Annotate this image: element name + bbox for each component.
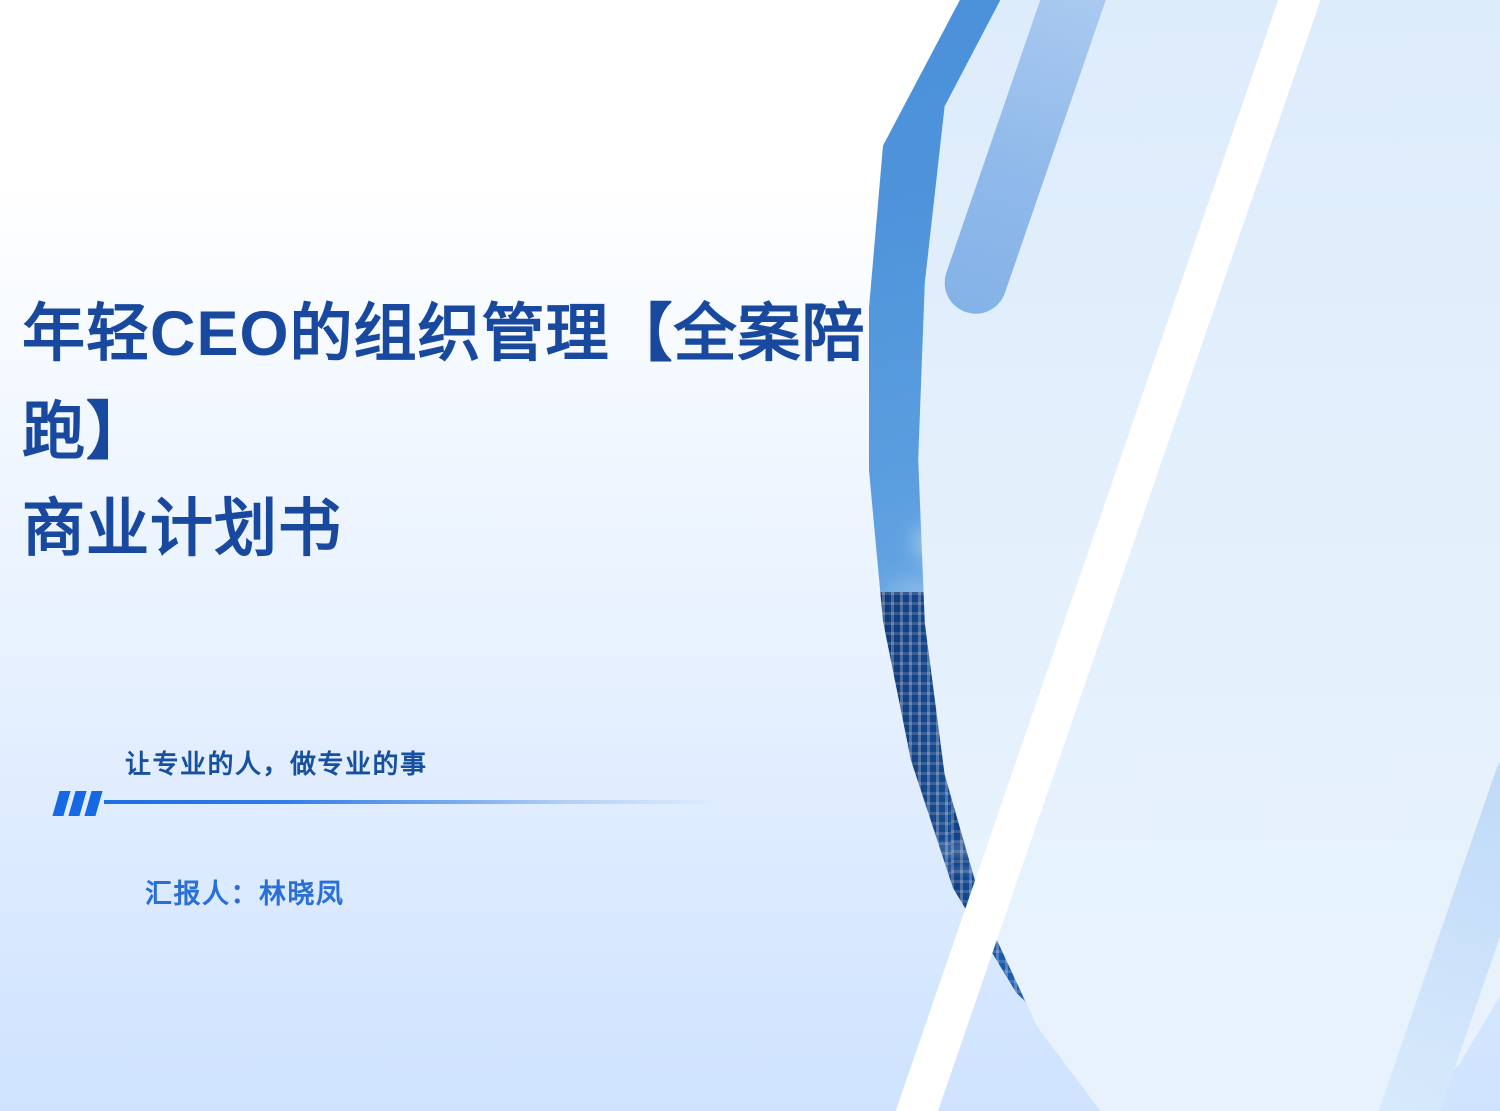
page-title: 年轻CEO的组织管理【全案陪跑】 商业计划书 <box>22 286 982 579</box>
slanted-mark-icon <box>52 791 70 816</box>
slide-subtitle: 让专业的人，做专业的事 <box>125 744 428 781</box>
slanted-marks-icon <box>56 791 99 816</box>
slanted-mark-icon <box>68 791 86 816</box>
presentation-cover-slide: 年轻CEO的组织管理【全案陪跑】 商业计划书 让专业的人，做专业的事 汇报人：林… <box>0 0 1500 1111</box>
divider-rule <box>104 800 720 804</box>
presenter-name: 汇报人：林晓凤 <box>145 872 345 911</box>
